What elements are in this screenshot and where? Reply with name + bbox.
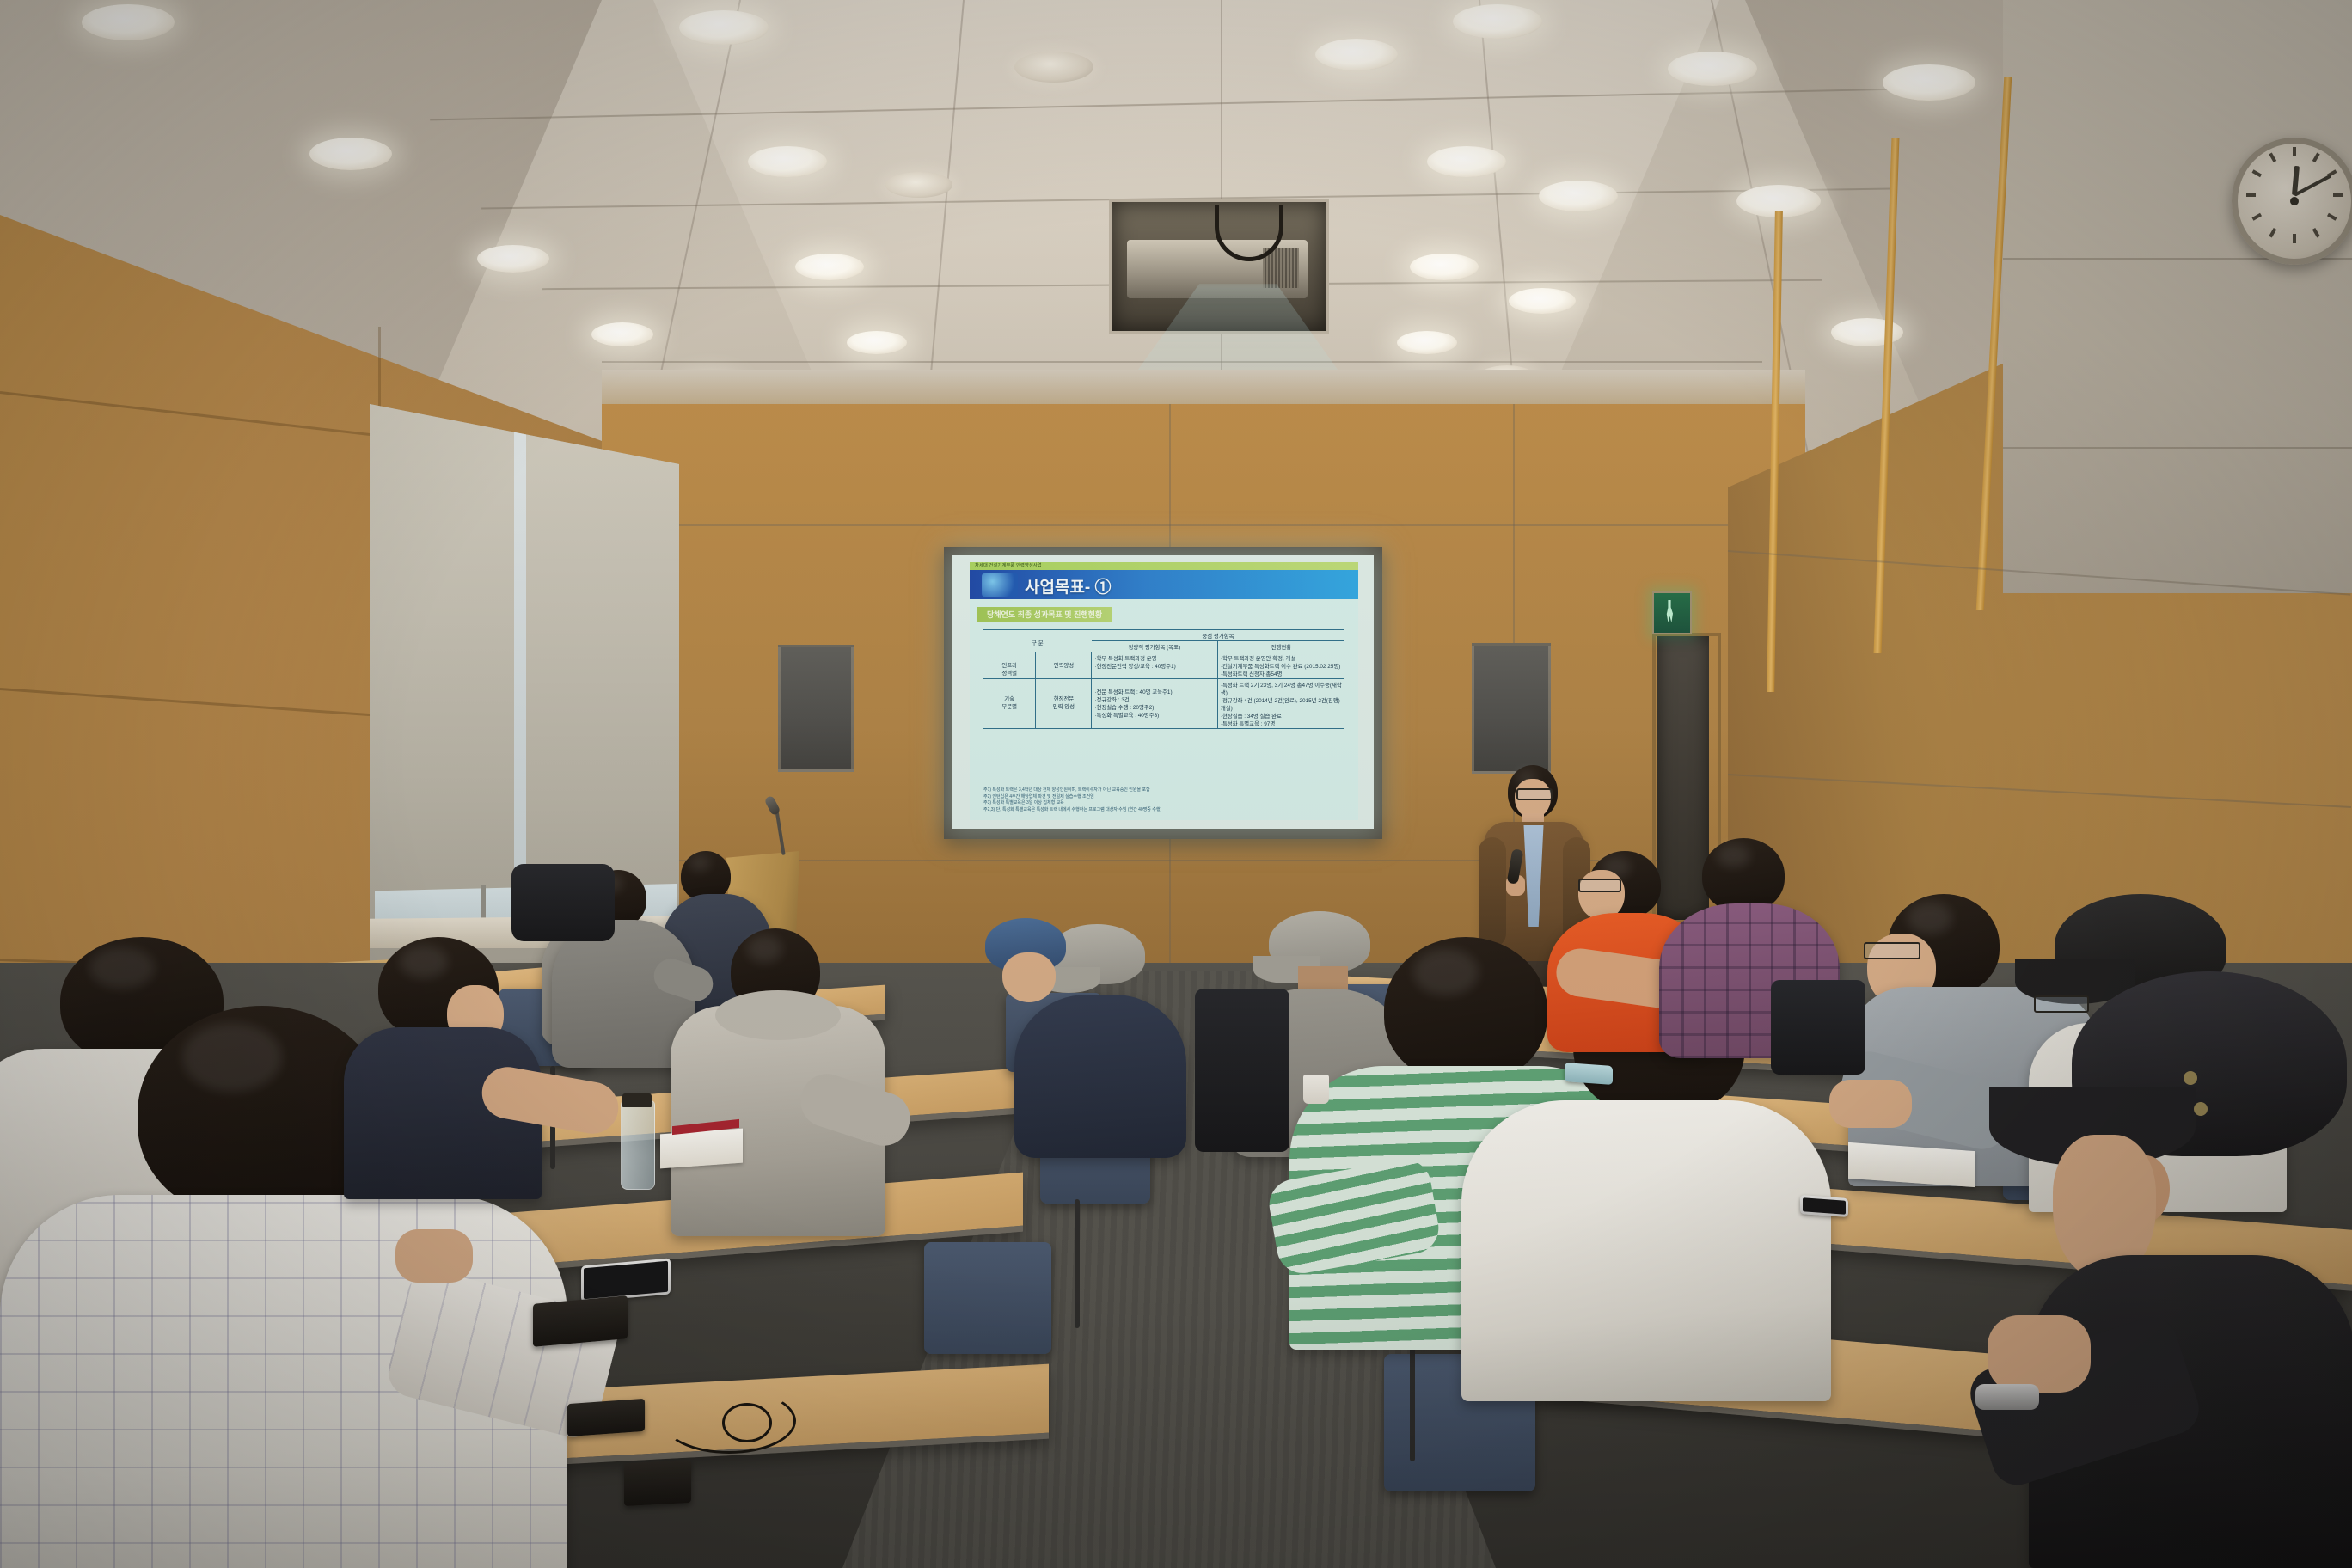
slide-th-progress: 진행현황 bbox=[1217, 641, 1344, 652]
slide-footnote: 주2,3) 단, 특성화 특별교육은 특성화 트랙 내에서 수행하는 프로그램 … bbox=[983, 807, 1344, 814]
ceiling-downlight bbox=[477, 245, 549, 273]
slide-row-targets: 전문 특성화 트랙 : 40명 교육주1) 정규강좌 : 3건 현장실습 수행 … bbox=[1092, 679, 1217, 729]
slide-header-text: 차세대 건설기계부품 인력양성사업 bbox=[975, 562, 1042, 570]
audience-member bbox=[671, 928, 885, 1229]
slide-th-target: 정량적 평가항목 (목표) bbox=[1092, 641, 1217, 652]
ceiling-downlight bbox=[309, 138, 392, 170]
wallet[interactable] bbox=[533, 1295, 628, 1347]
ceiling-downlight bbox=[1397, 331, 1457, 354]
slide-row-category: 인프라 성격별 bbox=[983, 652, 1036, 679]
ceiling-downlight bbox=[1509, 288, 1576, 314]
audience-member bbox=[344, 937, 542, 1195]
ceiling-downlight bbox=[1315, 39, 1398, 70]
slide-table-row: 기술 부문별 현장전문 인력 양성 전문 특성화 트랙 : 40명 교육주1) … bbox=[983, 679, 1344, 729]
ceiling-downlight bbox=[1410, 254, 1479, 280]
slide-logo-icon bbox=[982, 573, 1018, 597]
earbud-cable bbox=[662, 1388, 796, 1454]
ceiling-downlight bbox=[795, 254, 864, 280]
wristwatch bbox=[1975, 1384, 2039, 1410]
acoustic-panel bbox=[1472, 643, 1551, 774]
slide-footnote: 주3) 특성화 특별교육은 3일 이상 집체형 교육 bbox=[983, 800, 1344, 807]
ceiling-downlight bbox=[1539, 181, 1618, 211]
blind-gap bbox=[514, 404, 526, 928]
glasses-icon bbox=[1578, 879, 1621, 892]
slide-row-subcategory: 현장전문 인력 양성 bbox=[1036, 679, 1092, 729]
slide-title: 사업목표- ① bbox=[1025, 574, 1112, 597]
chair[interactable] bbox=[924, 1242, 1051, 1354]
backpack[interactable] bbox=[511, 864, 615, 941]
smartphone[interactable] bbox=[1800, 1195, 1848, 1217]
bottle-cap bbox=[622, 1093, 652, 1107]
cap-eyelet-icon bbox=[2184, 1071, 2197, 1085]
head bbox=[1702, 838, 1785, 912]
presenter-arm-left bbox=[1479, 837, 1506, 947]
hand bbox=[395, 1229, 473, 1283]
slide-header-strip: 차세대 건설기계부품 인력양성사업 bbox=[970, 562, 1358, 570]
roller-blind-left[interactable] bbox=[370, 404, 514, 923]
slide-row-progress: 학부 트랙과정 운영안 확정, 개설 건설기계부품 특성화트랙 이수 완료 (2… bbox=[1217, 652, 1344, 679]
presentation-slide: 차세대 건설기계부품 인력양성사업 사업목표- ① 당해연도 최종 성과목표 및… bbox=[970, 562, 1358, 820]
hoodie-hood bbox=[715, 990, 841, 1040]
ceiling-downlight bbox=[885, 172, 952, 198]
wall-panel-line bbox=[2003, 447, 2352, 449]
water-bottle[interactable] bbox=[621, 1100, 655, 1190]
wall-right-upper-panel bbox=[2003, 0, 2352, 593]
ceiling-downlight bbox=[847, 331, 907, 354]
audience-member bbox=[1926, 971, 2352, 1568]
presenter-glasses-icon bbox=[1516, 788, 1553, 800]
clock-minute-hand bbox=[2294, 175, 2331, 197]
slide-subtitle-band: 당해연도 최종 성과목표 및 진행현황 bbox=[977, 607, 1112, 622]
glasses-icon bbox=[1864, 942, 1920, 959]
clock-center-pin bbox=[2290, 197, 2299, 205]
ceiling-downlight bbox=[1453, 4, 1542, 39]
torso bbox=[1461, 1100, 1831, 1401]
slide-row-subcategory: 인력양성 bbox=[1036, 652, 1092, 679]
ceiling-downlight bbox=[748, 146, 827, 177]
ceiling-downlight bbox=[1427, 146, 1506, 177]
hand bbox=[1829, 1080, 1912, 1128]
slide-table-row: 인프라 성격별 인력양성 학부 특성화 트랙과정 운영 현장전문인력 양성/교육… bbox=[983, 652, 1344, 679]
cap-eyelet-icon bbox=[2194, 1102, 2208, 1116]
slide-footnote: 주1) 특성화 트랙은 3,4학년 대상 전체 양성인원이며, 트랙이수자가 아… bbox=[983, 787, 1344, 794]
ceiling-downlight bbox=[1883, 64, 1975, 101]
hand bbox=[1988, 1315, 2091, 1393]
face bbox=[1002, 952, 1056, 1002]
slide-title-band: 사업목표- ① bbox=[970, 570, 1358, 599]
acoustic-panel bbox=[778, 645, 854, 772]
slide-row-category: 기술 부문별 bbox=[983, 679, 1036, 729]
projection-screen: 차세대 건설기계부품 인력양성사업 사업목표- ① 당해연도 최종 성과목표 및… bbox=[952, 555, 1374, 829]
slide-th-group: 중점 평가항목 bbox=[1092, 630, 1344, 641]
device-case[interactable] bbox=[567, 1399, 645, 1436]
remote-control[interactable] bbox=[624, 1460, 691, 1506]
backpack[interactable] bbox=[1771, 980, 1865, 1075]
slide-th-category: 구 분 bbox=[983, 630, 1092, 652]
ceiling-downlight bbox=[591, 322, 653, 346]
slide-row-targets: 학부 특성화 트랙과정 운영 현장전문인력 양성/교육 : 40명주1) bbox=[1092, 652, 1217, 679]
cup[interactable] bbox=[1303, 1075, 1329, 1104]
slide-footnote: 주2) 인턴십은 4주간 해당업체 파견 및 전일제 실습수행 조건임 bbox=[983, 794, 1344, 801]
ceiling-downlight bbox=[1014, 52, 1093, 83]
exit-sign-icon bbox=[1652, 591, 1692, 634]
chair-leg bbox=[1075, 1199, 1080, 1328]
running-man-icon bbox=[1666, 600, 1673, 622]
slide-row-progress: 특성화 트랙 2기 23명, 3기 24명 총47명 이수중(재학생) 정규강좌… bbox=[1217, 679, 1344, 729]
roller-blind-right[interactable] bbox=[526, 407, 679, 937]
ceiling-downlight bbox=[679, 10, 769, 45]
wall-panel-line bbox=[602, 524, 1805, 526]
audience-member bbox=[980, 918, 1083, 1047]
ceiling-downlight bbox=[82, 4, 175, 40]
smartphone[interactable] bbox=[1565, 1063, 1613, 1085]
slide-table: 구 분 중점 평가항목 정량적 평가항목 (목표) 진행현황 인프라 성격별 인… bbox=[983, 629, 1344, 729]
ceiling-downlight bbox=[1668, 52, 1757, 86]
backpack[interactable] bbox=[1195, 989, 1289, 1152]
slide-footnotes: 주1) 특성화 트랙은 3,4학년 대상 전체 양성인원이며, 트랙이수자가 아… bbox=[983, 787, 1344, 813]
seminar-room-photo: 차세대 건설기계부품 인력양성사업 사업목표- ① 당해연도 최종 성과목표 및… bbox=[0, 0, 2352, 1568]
wall-clock bbox=[2232, 138, 2352, 265]
